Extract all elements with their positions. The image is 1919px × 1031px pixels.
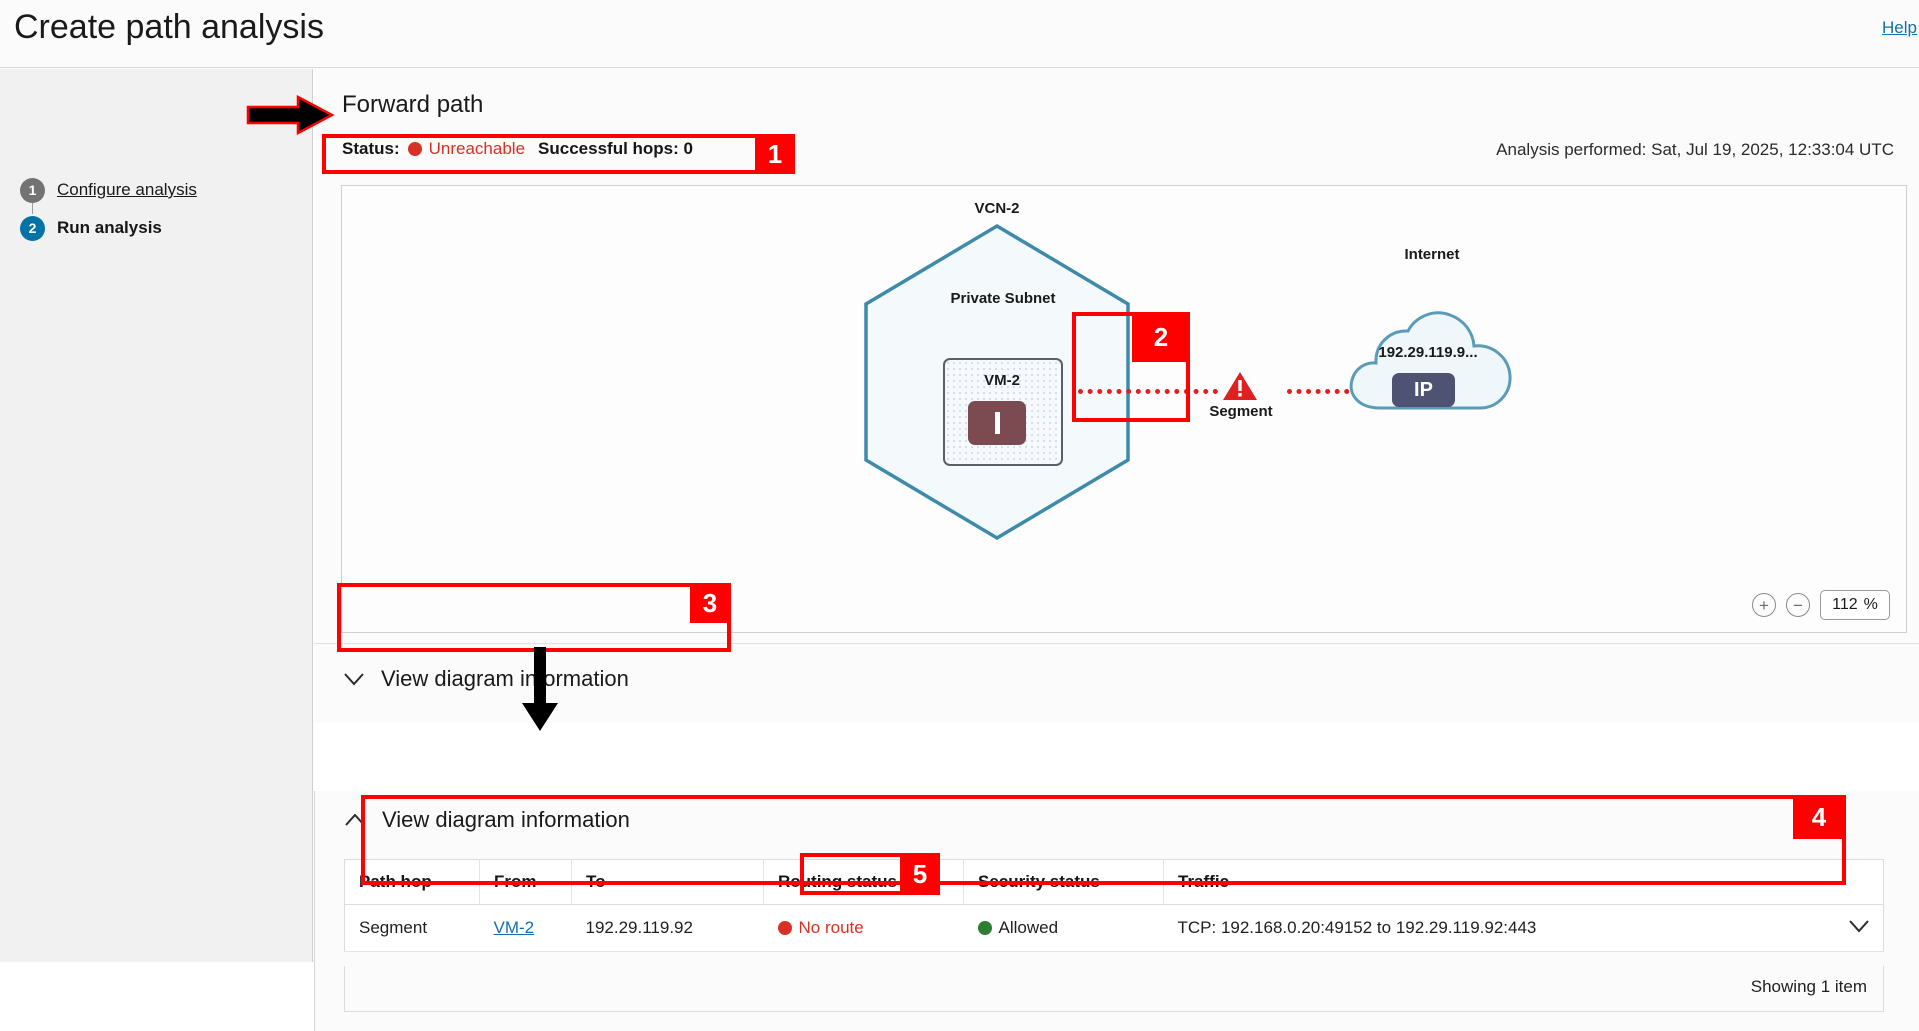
- chevron-down-icon[interactable]: [1849, 918, 1869, 938]
- routing-status-dot-icon: [778, 921, 792, 935]
- zoom-in-icon[interactable]: +: [1752, 593, 1776, 617]
- cell-traffic: TCP: 192.168.0.20:49152 to 192.29.119.92…: [1164, 905, 1884, 952]
- security-status-dot-icon: [978, 921, 992, 935]
- zoom-out-icon[interactable]: −: [1786, 593, 1810, 617]
- chevron-down-icon: [341, 666, 367, 692]
- step-label[interactable]: Configure analysis: [57, 180, 197, 200]
- status-label: Status:: [342, 139, 400, 159]
- status-summary: Status: Unreachable Successful hops: 0: [342, 139, 693, 159]
- column-from[interactable]: From: [480, 860, 572, 905]
- ip-node-icon[interactable]: IP: [1392, 373, 1455, 407]
- accordion-label: View diagram information: [382, 807, 630, 833]
- main-content: Forward path Status: Unreachable Success…: [314, 69, 1919, 962]
- status-dot-icon: [408, 142, 422, 156]
- wizard-sidebar: 1 Configure analysis 2 Run analysis: [0, 69, 313, 962]
- path-hop-table: Path hop From To Routing status Security…: [344, 859, 1884, 952]
- sidebar-step-run-analysis[interactable]: 2 Run analysis: [20, 213, 162, 243]
- vm-label: VM-2: [952, 372, 1052, 389]
- diagram-zoom-controls: + − 112 %: [1752, 590, 1890, 620]
- security-status-text: Allowed: [999, 918, 1059, 938]
- column-path-hop[interactable]: Path hop: [345, 860, 480, 905]
- table-row[interactable]: Segment VM-2 192.29.119.92 No route: [345, 905, 1884, 952]
- topology-diagram-canvas[interactable]: VCN-2 Private Subnet VM-2: [341, 185, 1907, 633]
- accordion-toggle-collapsed[interactable]: View diagram information: [341, 666, 629, 692]
- chevron-up-icon: [342, 807, 368, 833]
- table-footer: Showing 1 item: [344, 966, 1884, 1012]
- cell-path-hop: Segment: [345, 905, 480, 952]
- step-number-badge: 2: [20, 216, 45, 241]
- internet-label: Internet: [1377, 246, 1487, 263]
- instance-glyph: [995, 412, 1000, 434]
- status-value: Unreachable: [429, 139, 525, 159]
- zoom-level-input[interactable]: 112 %: [1820, 590, 1890, 620]
- help-link[interactable]: Help: [1882, 18, 1917, 38]
- sidebar-step-configure-analysis[interactable]: 1 Configure analysis: [20, 175, 197, 205]
- cell-from: VM-2: [480, 905, 572, 952]
- cell-to: 192.29.119.92: [572, 905, 764, 952]
- page-title: Create path analysis: [14, 8, 324, 47]
- segment-label: Segment: [1196, 403, 1286, 420]
- analysis-performed-timestamp: Analysis performed: Sat, Jul 19, 2025, 1…: [1496, 140, 1894, 160]
- zoom-level-value: 112: [1832, 596, 1858, 614]
- from-resource-link[interactable]: VM-2: [494, 918, 535, 937]
- vcn-label: VCN-2: [942, 200, 1052, 217]
- showing-count-text: Showing 1 item: [1751, 977, 1867, 997]
- forward-path-section: Forward path Status: Unreachable Success…: [314, 69, 1919, 649]
- column-routing-status[interactable]: Routing status: [764, 860, 964, 905]
- forward-path-heading: Forward path: [342, 91, 483, 119]
- step-label: Run analysis: [57, 218, 162, 238]
- forward-path-status-row: Status: Unreachable Successful hops: 0 A…: [328, 135, 1906, 169]
- instance-icon[interactable]: [968, 401, 1026, 445]
- accordion-label: View diagram information: [381, 666, 629, 692]
- table-header: Path hop From To Routing status Security…: [345, 860, 1884, 905]
- cell-routing-status: No route: [764, 905, 964, 952]
- routing-status-text: No route: [799, 918, 864, 938]
- zoom-level-unit: %: [1864, 596, 1878, 614]
- path-line-left: [1078, 389, 1218, 394]
- successful-hops-label: Successful hops: 0: [538, 139, 693, 159]
- view-diagram-information-expanded[interactable]: View diagram information Path hop From T…: [314, 791, 1919, 1031]
- internet-ip-label: 192.29.119.9...: [1363, 344, 1493, 361]
- table-header-row: Path hop From To Routing status Security…: [345, 860, 1884, 905]
- view-diagram-information-collapsed[interactable]: View diagram information: [314, 643, 1919, 723]
- warning-triangle-icon[interactable]: [1222, 370, 1258, 402]
- column-to[interactable]: To: [572, 860, 764, 905]
- column-security-status[interactable]: Security status: [964, 860, 1164, 905]
- accordion-toggle-expanded[interactable]: View diagram information: [342, 807, 630, 833]
- cell-security-status: Allowed: [964, 905, 1164, 952]
- step-number-badge: 1: [20, 178, 45, 203]
- diagram-inner: VCN-2 Private Subnet VM-2: [342, 186, 1906, 632]
- table-body: Segment VM-2 192.29.119.92 No route: [345, 905, 1884, 952]
- private-subnet-label: Private Subnet: [937, 290, 1069, 307]
- traffic-text: TCP: 192.168.0.20:49152 to 192.29.119.92…: [1178, 918, 1537, 937]
- section-gap: [314, 723, 1919, 791]
- top-bar: Create path analysis Help: [0, 0, 1919, 68]
- column-traffic[interactable]: Traffic: [1164, 860, 1884, 905]
